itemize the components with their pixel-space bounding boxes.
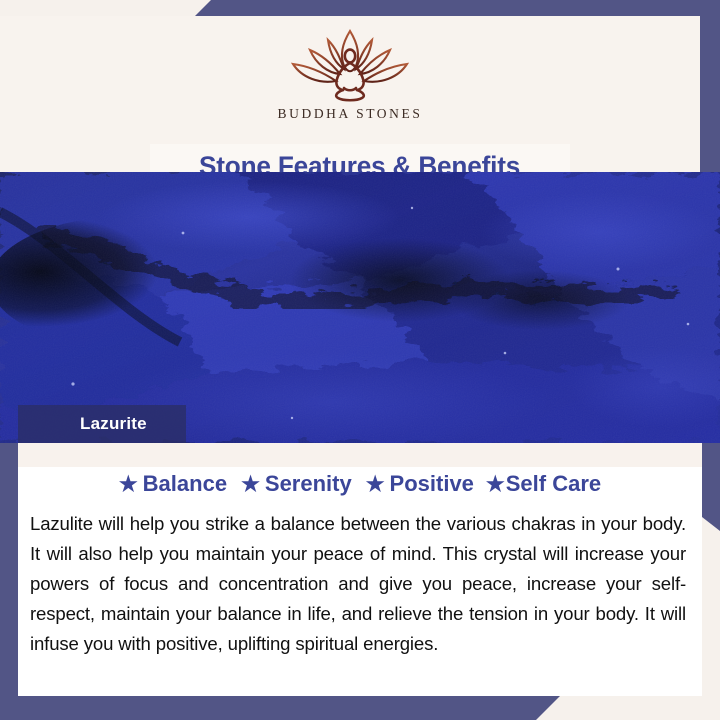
star-icon: ★ <box>241 474 260 495</box>
benefit-item: ★ Serenity <box>241 471 352 497</box>
benefit-item: ★ Self Care <box>486 471 601 497</box>
decorative-band-right-upper <box>700 0 720 172</box>
benefit-label: Self Care <box>506 471 601 497</box>
brand-logo: BUDDHA STONES <box>0 26 700 122</box>
decorative-band-left <box>0 432 18 720</box>
stone-name-label: Lazurite <box>18 405 186 443</box>
decorative-band-right-tab <box>702 441 720 531</box>
brand-name: BUDDHA STONES <box>278 106 423 122</box>
benefit-label: Positive <box>390 471 474 497</box>
lotus-meditation-icon <box>280 26 420 104</box>
benefit-label: Balance <box>143 471 227 497</box>
infographic-page: BUDDHA STONES Stone Features & Benefits <box>0 0 720 720</box>
stone-name-text: Lazurite <box>80 414 147 434</box>
stone-photo <box>0 172 720 443</box>
benefits-list: ★ Balance ★ Serenity ★ Positive ★ Self C… <box>18 471 702 497</box>
star-icon: ★ <box>366 474 385 495</box>
header: BUDDHA STONES Stone Features & Benefits <box>0 16 700 172</box>
decorative-band-top <box>195 0 720 16</box>
panel-top-strip <box>18 443 702 467</box>
decorative-band-bottom <box>0 696 560 720</box>
benefit-label: Serenity <box>265 471 352 497</box>
description-text: Lazulite will help you strike a balance … <box>30 509 686 659</box>
star-icon: ★ <box>119 474 138 495</box>
benefit-item: ★ Positive <box>366 471 474 497</box>
star-icon: ★ <box>486 474 505 495</box>
content-panel: ★ Balance ★ Serenity ★ Positive ★ Self C… <box>18 443 702 696</box>
benefit-item: ★ Balance <box>119 471 227 497</box>
lazurite-texture <box>0 172 720 443</box>
